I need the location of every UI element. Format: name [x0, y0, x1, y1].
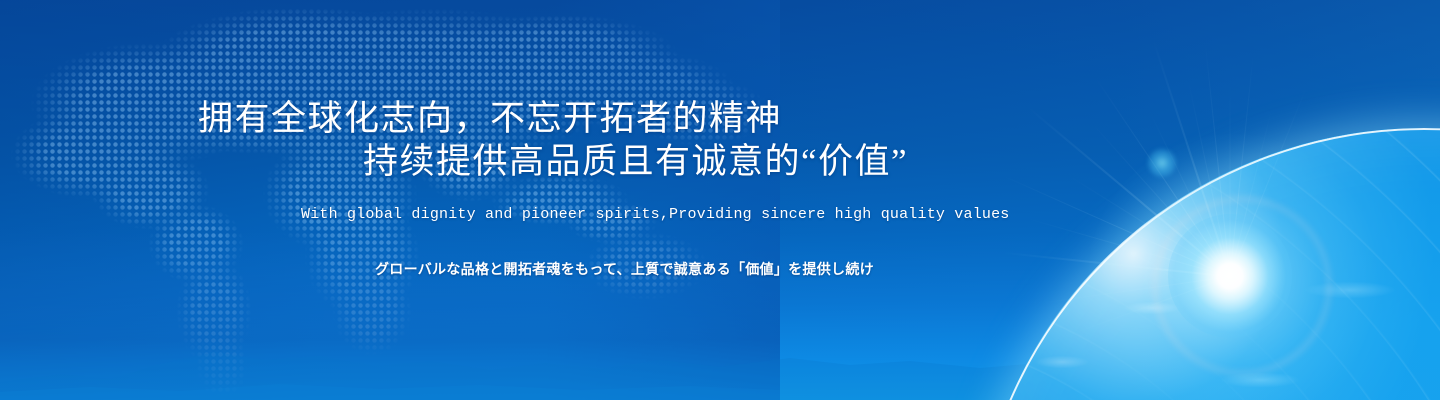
lens-flare-ring-icon: [1152, 196, 1332, 376]
sun-ray: [1092, 124, 1230, 277]
sun-ray: [1095, 77, 1230, 277]
sun-ray: [1069, 175, 1231, 277]
sun-ray: [1230, 107, 1273, 277]
sun-core-icon: [1168, 214, 1292, 338]
background-tint-overlay: [0, 0, 1440, 400]
planet-graphic-container: [880, 0, 1440, 400]
sun-ray: [1188, 81, 1231, 277]
headline-line-2: 持续提供高品质且有诚意的“价值”: [363, 133, 908, 184]
mountain-silhouette-icon: [0, 330, 1440, 400]
hero-banner: 拥有全球化志向，不忘开拓者的精神 持续提供高品质且有诚意的“价值” With g…: [0, 0, 1440, 400]
sun-ray: [1148, 110, 1230, 277]
world-map-fade-overlay: [0, 0, 780, 400]
sun-ray: [1229, 53, 1254, 277]
planet-limb-highlight: [972, 128, 1440, 400]
sun-ray: [1205, 43, 1231, 277]
sun-ray: [1001, 174, 1230, 277]
dotted-world-map-graphic: [0, 0, 760, 394]
planet-surface-arcs: [972, 128, 1440, 400]
sun-bloom-glow: [1088, 134, 1378, 400]
sun-ray: [1152, 39, 1231, 277]
subtitle-japanese: グローバルな品格と開拓者魂をもって、上質で誠意ある「価値」を提供し続け: [375, 259, 874, 279]
sun-ray: [1230, 86, 1308, 276]
sun-ray: [1070, 276, 1230, 335]
banner-text-layer: 拥有全球化志向，不忘开拓者的精神 持续提供高品质且有诚意的“价值” With g…: [0, 0, 1440, 400]
subtitle-english: With global dignity and pioneer spirits,…: [301, 206, 1010, 223]
sun-ray: [1042, 276, 1230, 304]
sun-ray: [1001, 252, 1230, 278]
sun-ray: [1028, 218, 1230, 277]
lens-flare-orb-icon: [1148, 149, 1176, 177]
planet-cloud-texture: [972, 128, 1440, 400]
sun-ray: [1230, 82, 1231, 277]
planet-sphere-icon: [972, 128, 1440, 400]
headline-line-1: 拥有全球化志向，不忘开拓者的精神: [198, 90, 782, 141]
sun-ray: [1026, 106, 1230, 278]
